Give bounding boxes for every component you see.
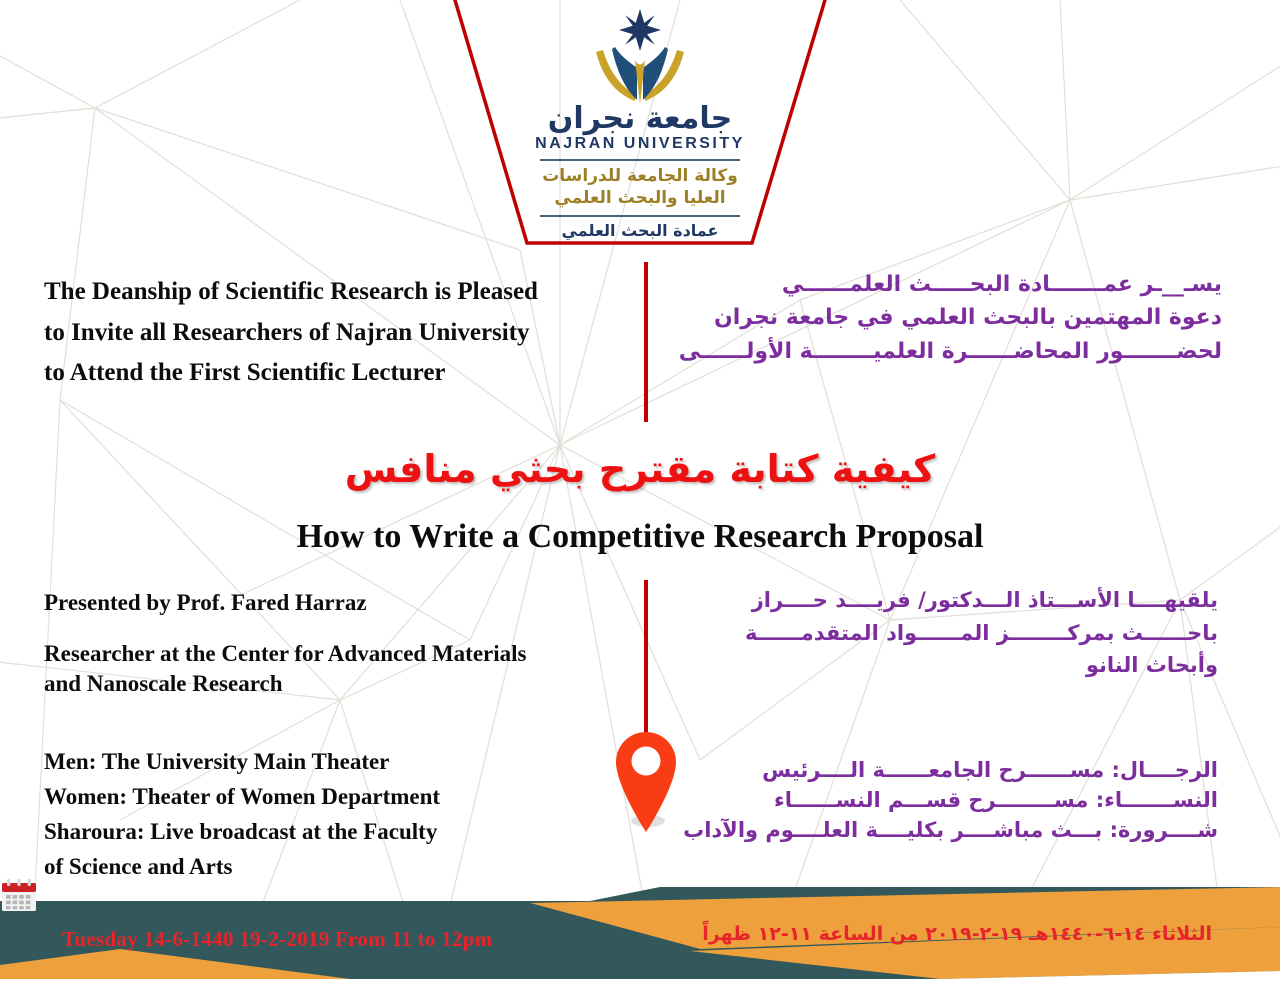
footer-bar: Tuesday 14-6-1440 19-2-2019 From 11 to 1… <box>0 879 1280 989</box>
invitation-ar-line-2: دعوة المهتمين بالبحث العلمي في جامعة نجر… <box>662 301 1222 334</box>
presenter-name-arabic: يلقيهــــا الأســـتاذ الـــدكتور/ فريـــ… <box>673 584 1218 617</box>
presenter-affiliation-arabic-line-1: باحــــــث بمركــــــــز المــــــواد ال… <box>673 617 1218 650</box>
university-name-arabic: جامعة نجران <box>475 104 805 134</box>
logo-divider-top <box>540 159 740 161</box>
footer-date-arabic: الثلاثاء ١٤-٦-١٤٤٠هـ ١٩-٢-٢٠١٩ من الساعة… <box>702 923 1212 945</box>
invitation-ar-line-3: لحضـــــــور المحاضــــــرة العلميــــــ… <box>662 335 1222 368</box>
university-name-english: NAJRAN UNIVERSITY <box>475 135 805 153</box>
university-logo: جامعة نجران NAJRAN UNIVERSITY وكالة الجا… <box>475 8 805 240</box>
presenter-affiliation-english-line-2: and Nanoscale Research <box>44 669 644 698</box>
venue-ar-line-3: شــــرورة: بـــث مباشــــر بكليــــة الع… <box>673 815 1218 845</box>
invitation-text-english: The Deanship of Scientific Research is P… <box>44 272 644 394</box>
venue-en-line-2: Women: Theater of Women Department <box>44 780 624 815</box>
lecture-title-arabic: كيفية كتابة مقترح بحثي منافس <box>0 447 1280 491</box>
presenter-name-english: Presented by Prof. Fared Harraz <box>44 588 644 617</box>
invitation-en-line-3: to Attend the First Scientific Lecturer <box>44 353 644 394</box>
venue-ar-line-2: النســـــــاء: مســــــــرح قســـم النسـ… <box>673 785 1218 815</box>
venue-info-english: Men: The University Main Theater Women: … <box>44 745 624 885</box>
presenter-info-english: Presented by Prof. Fared Harraz Research… <box>44 588 644 698</box>
invitation-text-arabic: يسـ__ـر عمـــــــادة البحـــــث العلمـــ… <box>662 268 1222 368</box>
map-pin-icon <box>608 722 684 834</box>
invitation-ar-line-1: يسـ__ـر عمـــــــادة البحـــــث العلمـــ… <box>662 268 1222 301</box>
calendar-icon <box>0 879 38 913</box>
vertical-divider-top <box>644 262 648 422</box>
presenter-affiliation-english-line-1: Researcher at the Center for Advanced Ma… <box>44 639 644 668</box>
agency-line-2: العليا والبحث العلمي <box>475 188 805 210</box>
venue-en-line-1: Men: The University Main Theater <box>44 745 624 780</box>
agency-line-1: وكالة الجامعة للدراسات <box>475 166 805 188</box>
venue-en-line-3: Sharoura: Live broadcast at the Faculty <box>44 815 624 850</box>
lecture-title-english: How to Write a Competitive Research Prop… <box>0 518 1280 556</box>
venue-info-arabic: الرجــــال: مســــــرح الجامعــــــة الـ… <box>673 755 1218 846</box>
presenter-info-arabic: يلقيهــــا الأســـتاذ الـــدكتور/ فريـــ… <box>673 584 1218 682</box>
footer-date-english: Tuesday 14-6-1440 19-2-2019 From 11 to 1… <box>62 927 493 952</box>
logo-divider-bottom <box>540 215 740 217</box>
deanship-name-arabic: عمادة البحث العلمي <box>475 221 805 240</box>
invitation-en-line-2: to Invite all Researchers of Najran Univ… <box>44 313 644 354</box>
presenter-affiliation-arabic-line-2: وأبحاث النانو <box>673 649 1218 682</box>
agency-name-arabic: وكالة الجامعة للدراسات العليا والبحث الع… <box>475 166 805 210</box>
venue-ar-line-1: الرجــــال: مســــــرح الجامعــــــة الـ… <box>673 755 1218 785</box>
invitation-en-line-1: The Deanship of Scientific Research is P… <box>44 272 644 313</box>
poster-root: جامعة نجران NAJRAN UNIVERSITY وكالة الجا… <box>0 0 1280 989</box>
najran-university-palm-star-emblem <box>565 8 715 108</box>
